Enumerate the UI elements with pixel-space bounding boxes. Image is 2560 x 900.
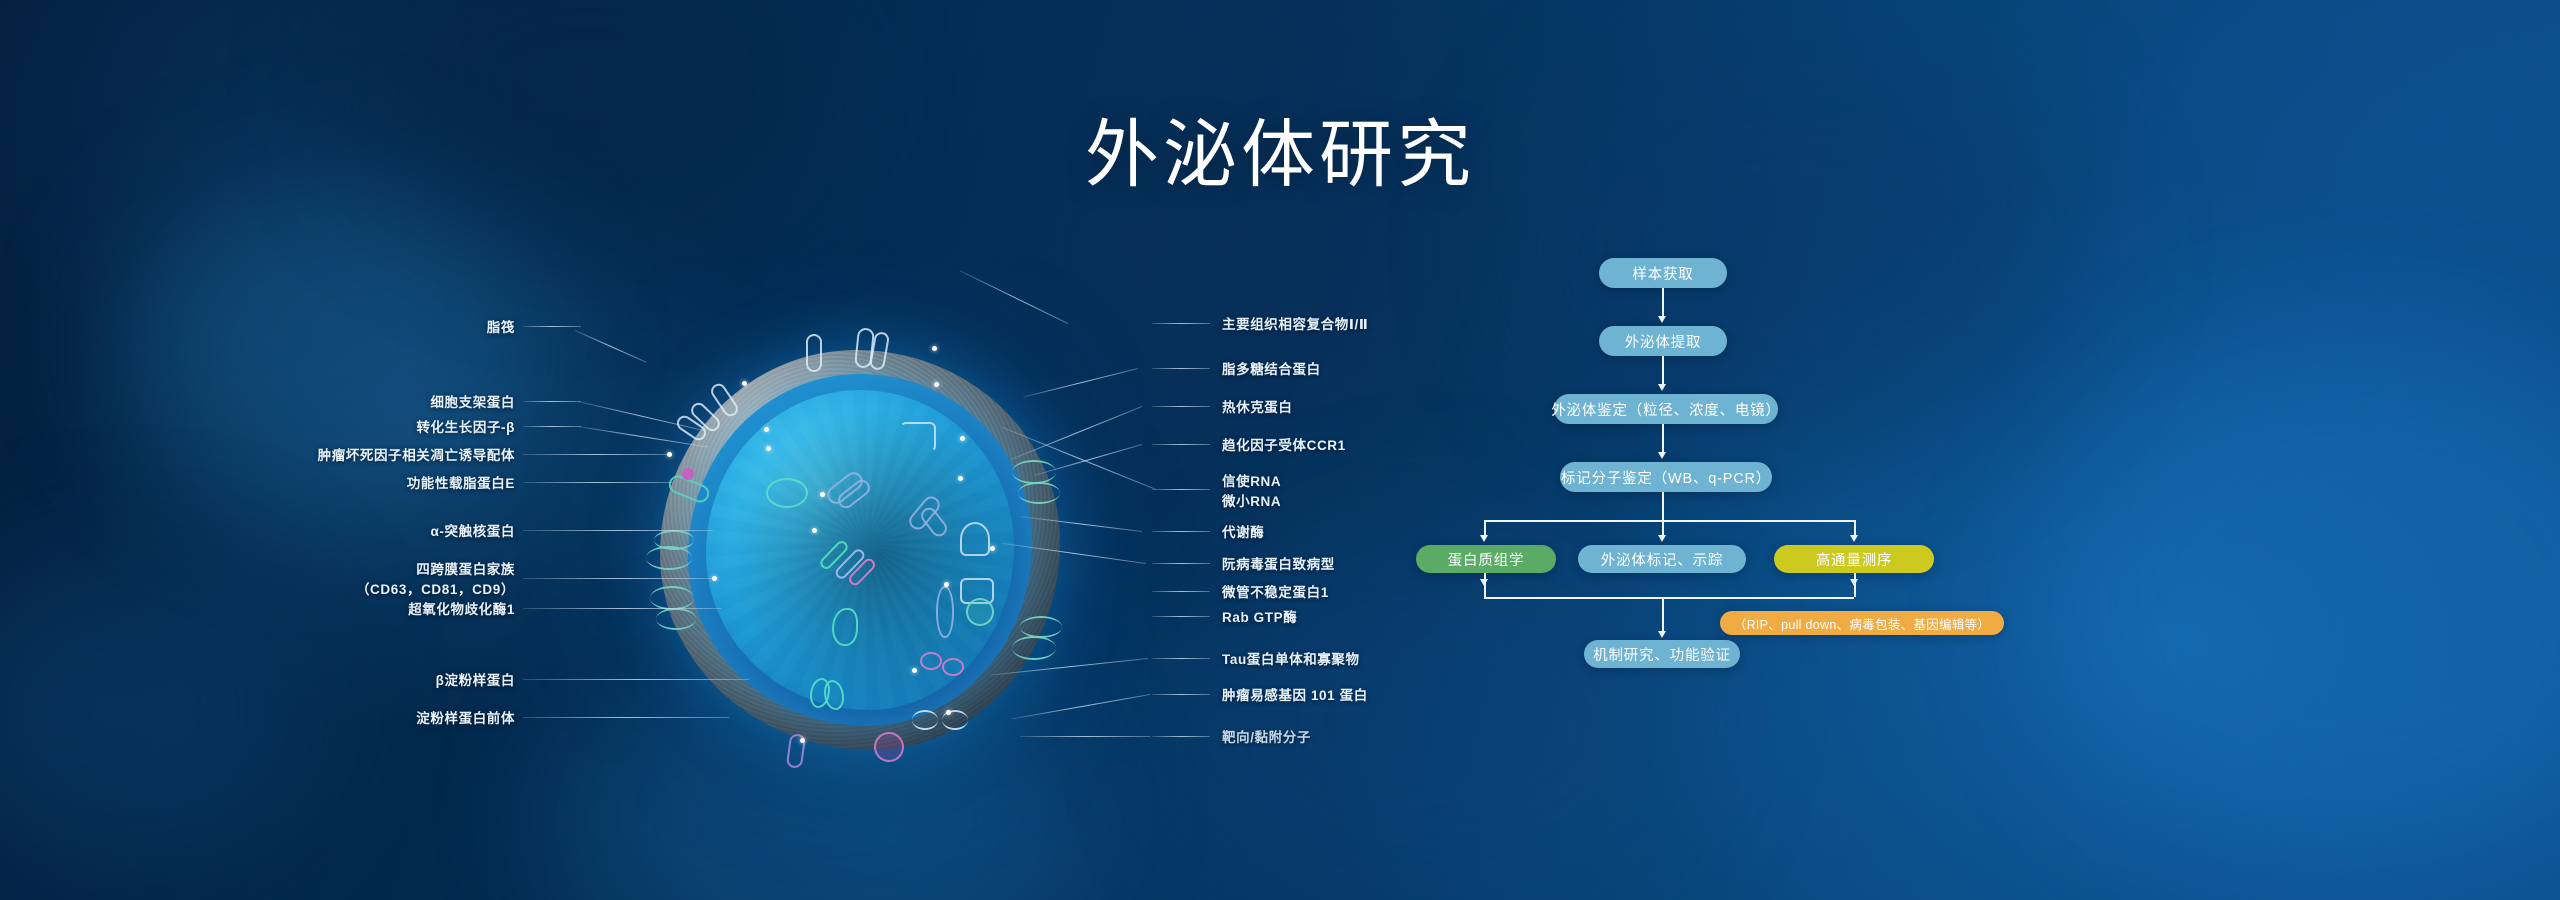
flow-arrow-icon bbox=[1480, 579, 1488, 586]
leader-line bbox=[1152, 444, 1210, 445]
label-tau-protein: Tau蛋白单体和寡聚物 bbox=[1222, 650, 1360, 670]
leader-line bbox=[1152, 591, 1210, 592]
flow-node-sample[interactable]: 样本获取 bbox=[1599, 258, 1727, 288]
flow-node-tracking[interactable]: 外泌体标记、示踪 bbox=[1578, 545, 1746, 573]
label-beta-amyloid: β淀粉样蛋白 bbox=[295, 671, 515, 691]
flow-connector bbox=[1662, 597, 1664, 633]
leader-line bbox=[960, 270, 1068, 324]
label-trail-ligand: 肿瘤坏死因子相关凋亡诱导配体 bbox=[195, 446, 515, 466]
exosome-lumen bbox=[706, 390, 1014, 710]
leader-line bbox=[523, 454, 669, 455]
label-rab-gtpase: Rab GTP酶 bbox=[1222, 608, 1297, 628]
background-blob-5 bbox=[2040, 340, 2560, 860]
leader-line bbox=[1152, 406, 1210, 407]
label-tsg101: 肿瘤易感基因 101 蛋白 bbox=[1222, 686, 1368, 706]
leader-line bbox=[1152, 616, 1210, 617]
flow-node-extract[interactable]: 外泌体提取 bbox=[1599, 326, 1727, 356]
flow-arrow-icon bbox=[1658, 631, 1666, 638]
label-metabolic-enzyme: 代谢酶 bbox=[1222, 523, 1264, 543]
leader-line bbox=[1152, 489, 1210, 490]
leader-line bbox=[523, 326, 581, 327]
page-title: 外泌体研究 bbox=[0, 118, 2560, 192]
exosome-research-poster: 外泌体研究 bbox=[0, 0, 2560, 900]
flow-arrow-icon bbox=[1850, 535, 1858, 542]
flow-arrow-icon bbox=[1658, 535, 1666, 542]
leader-line bbox=[1152, 323, 1210, 324]
label-heat-shock-protein: 热休克蛋白 bbox=[1222, 398, 1293, 418]
flow-node-sequencing[interactable]: 高通量测序 bbox=[1774, 545, 1934, 573]
label-stathmin1: 微管不稳定蛋白1 bbox=[1222, 583, 1329, 603]
flow-arrow-icon bbox=[1480, 535, 1488, 542]
workflow-flowchart: 样本获取 外泌体提取 外泌体鉴定（粒径、浓度、电镜） 标记分子鉴定（WB、q-P… bbox=[1430, 240, 2050, 700]
leader-line bbox=[523, 426, 581, 427]
label-apolipoprotein-e: 功能性载脂蛋白E bbox=[275, 474, 515, 494]
label-prion-protein: 阮病毒蛋白致病型 bbox=[1222, 555, 1335, 575]
label-sod1: 超氧化物歧化酶1 bbox=[275, 600, 515, 620]
leader-line bbox=[575, 330, 647, 363]
label-tgf-beta: 转化生长因子-β bbox=[335, 418, 515, 438]
label-targeting-molecule: 靶向/黏附分子 bbox=[1222, 728, 1311, 748]
leader-line bbox=[1152, 736, 1210, 737]
background-blob-2 bbox=[0, 560, 320, 860]
flow-arrow-icon bbox=[1658, 384, 1666, 391]
leader-line bbox=[1152, 531, 1210, 532]
flow-connector bbox=[1662, 492, 1664, 520]
label-ccr1: 趋化因子受体CCR1 bbox=[1222, 436, 1346, 456]
label-tetraspanin-family: 四跨膜蛋白家族 （CD63，CD81，CD9） bbox=[255, 560, 515, 599]
label-amyloid-precursor: 淀粉样蛋白前体 bbox=[275, 709, 515, 729]
flow-connector bbox=[1484, 520, 1854, 522]
label-cytoskeletal-protein: 细胞支架蛋白 bbox=[335, 393, 515, 413]
flow-arrow-icon bbox=[1658, 316, 1666, 323]
flow-arrow-icon bbox=[1658, 452, 1666, 459]
flow-node-marker[interactable]: 标记分子鉴定（WB、q-PCR） bbox=[1560, 462, 1772, 492]
leader-line bbox=[1152, 368, 1210, 369]
label-lbp: 脂多糖结合蛋白 bbox=[1222, 360, 1321, 380]
flow-node-mechanism[interactable]: 机制研究、功能验证 bbox=[1584, 640, 1740, 668]
flow-node-proteomics[interactable]: 蛋白质组学 bbox=[1416, 545, 1556, 573]
flow-connector bbox=[1484, 597, 1854, 599]
label-lipid-raft: 脂筏 bbox=[335, 318, 515, 338]
flow-note-methods[interactable]: （RIP、pull down、病毒包装、基因编辑等） bbox=[1720, 611, 2004, 635]
flow-connector bbox=[1662, 424, 1664, 454]
exosome-illustration bbox=[660, 350, 1060, 750]
flow-connector bbox=[1662, 288, 1664, 318]
leader-line bbox=[1152, 694, 1210, 695]
label-alpha-synuclein: α-突触核蛋白 bbox=[295, 522, 515, 542]
leader-line bbox=[1152, 658, 1210, 659]
flow-arrow-icon bbox=[1850, 579, 1858, 586]
label-mhc-complex: 主要组织相容复合物Ⅰ/Ⅱ bbox=[1222, 315, 1368, 335]
flow-connector bbox=[1662, 356, 1664, 386]
label-rna-cargo: 信使RNA 微小RNA bbox=[1222, 472, 1281, 511]
flow-node-identify[interactable]: 外泌体鉴定（粒径、浓度、电镜） bbox=[1554, 394, 1778, 424]
leader-line bbox=[523, 482, 673, 483]
leader-line bbox=[523, 401, 581, 402]
leader-line bbox=[1152, 563, 1210, 564]
